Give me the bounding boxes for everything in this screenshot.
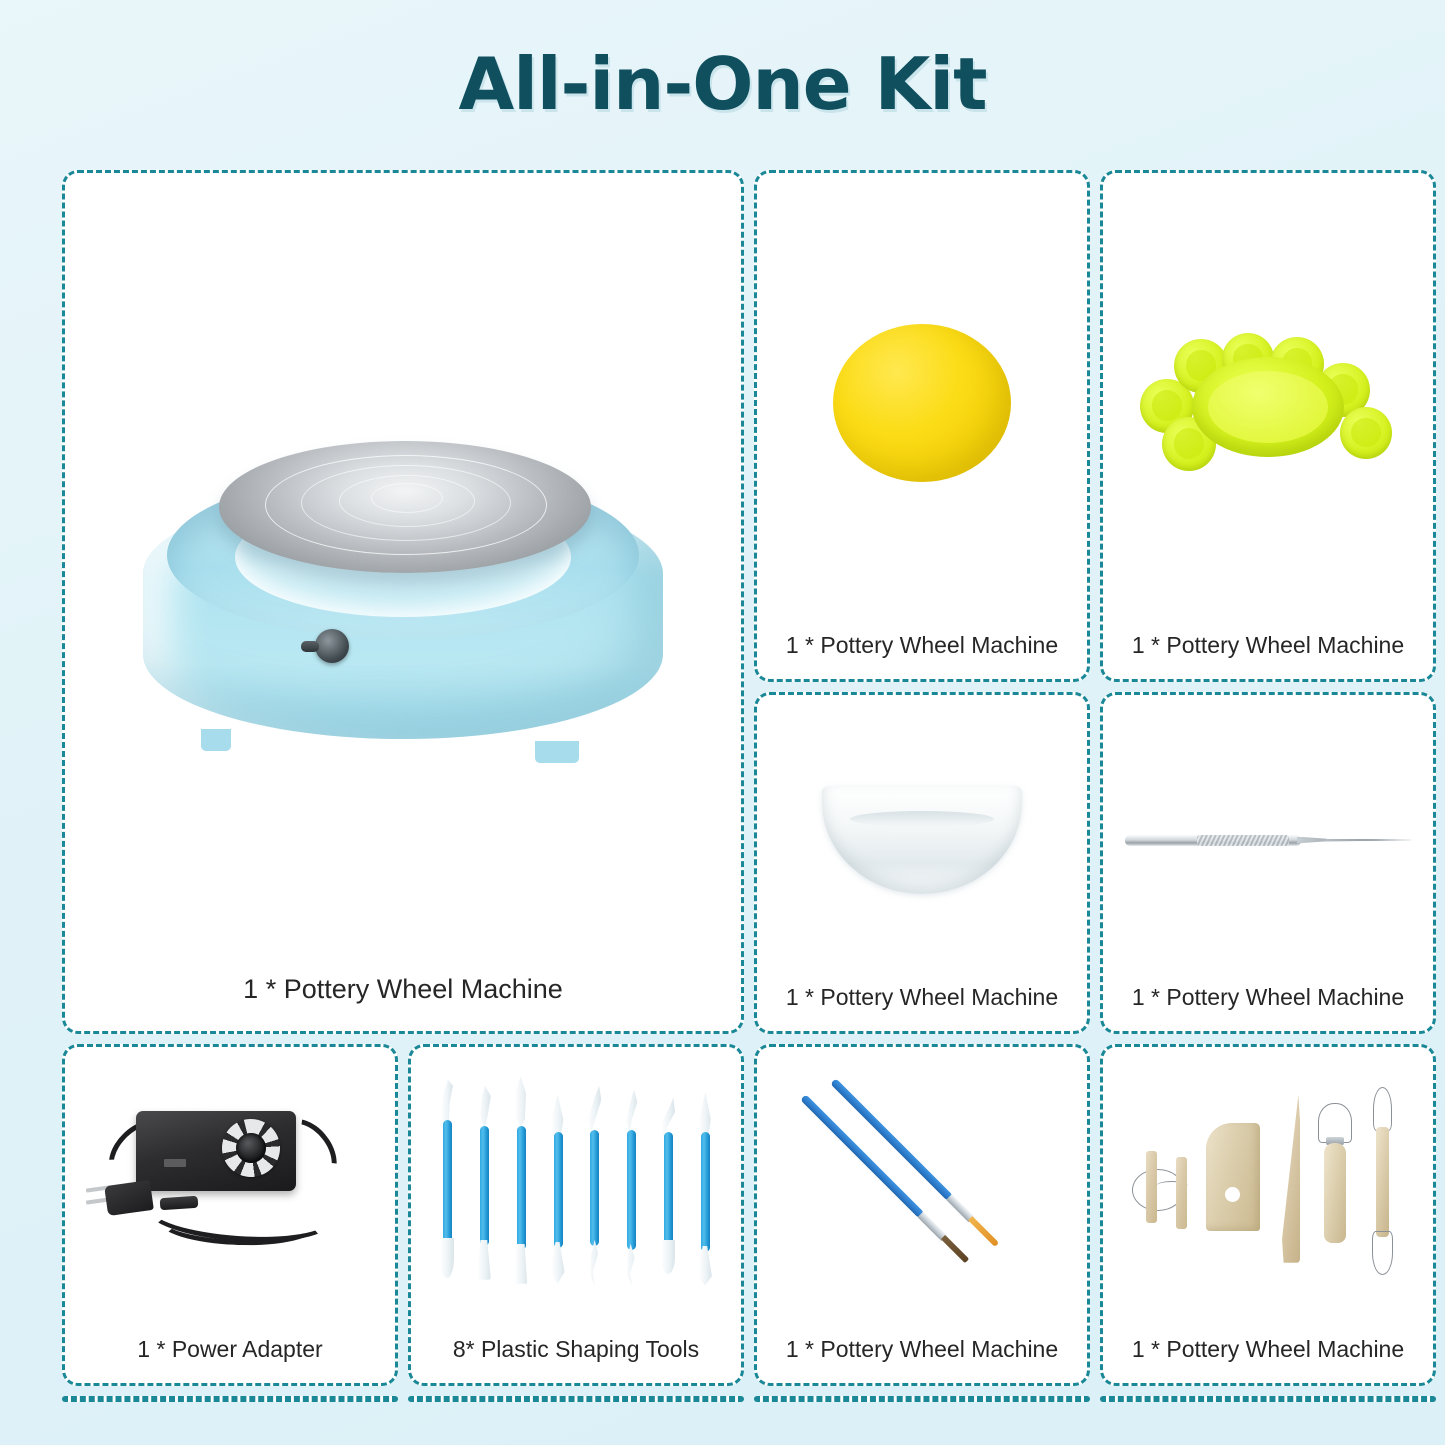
kit-grid: 1 * Pottery Wheel Machine 1 * Pottery Wh… — [62, 170, 1382, 1388]
kit-card-sponge[interactable]: 1 * Pottery Wheel Machine — [754, 170, 1090, 682]
kit-card-caption: 1 * Pottery Wheel Machine — [411, 1399, 741, 1402]
kit-card-caption: 1 * Pottery Wheel Machine — [65, 974, 741, 1031]
kit-card-caption: 1 * Power Adapter — [65, 1336, 395, 1383]
kit-card-paint-brushes[interactable]: 1 * Pottery Wheel Machine — [754, 1044, 1090, 1386]
kit-card-caption: 1 * Pottery Wheel Machine — [65, 1399, 395, 1402]
kit-card-clay-blocks[interactable]: 1 * Pottery Wheel Machine — [62, 1396, 398, 1402]
white-scraper-rib-icon — [757, 695, 1087, 984]
plastic-shaping-tools-icon — [411, 1047, 741, 1336]
power-adapter-icon — [65, 1047, 395, 1336]
kit-card-pottery-wheel-machine[interactable]: 1 * Pottery Wheel Machine — [62, 170, 744, 1034]
kit-card-caption: 1 * Pottery Wheel Machine — [757, 984, 1087, 1031]
kit-card-caption: 1 * Pottery Wheel Machine — [1103, 632, 1433, 679]
metal-needle-tool-icon — [1103, 695, 1433, 984]
kit-card-plastic-shaping-tools[interactable]: 8* Plastic Shaping Tools — [408, 1044, 744, 1386]
infographic-page: All-in-One Kit 1 * Pottery — [0, 0, 1445, 1445]
kit-card-scraper-rib[interactable]: 1 * Pottery Wheel Machine — [754, 692, 1090, 1034]
yellow-sponge-icon — [757, 173, 1087, 632]
kit-card-caption: 1 * Pottery Wheel Machine — [1103, 1336, 1433, 1383]
kit-card-caption: 1 * Pottery Wheel Machine — [757, 632, 1087, 679]
pottery-wheel-machine-icon — [65, 173, 741, 974]
kit-card-needle-tool[interactable]: 1 * Pottery Wheel Machine — [1100, 692, 1436, 1034]
kit-card-caption: 1 * Pottery Wheel Machine — [1103, 984, 1433, 1031]
kit-card-paint-pots[interactable]: 1 * Pottery Wheel Machine — [408, 1396, 744, 1402]
wooden-pottery-tools-icon — [1103, 1047, 1433, 1336]
paint-brushes-icon — [757, 1047, 1087, 1336]
kit-card-instruction-manual[interactable]: Alldeer Mini Pottery Wheel Machine Instr… — [754, 1396, 1090, 1402]
kit-card-caption: 1 * Pottery Wheel Machine — [757, 1336, 1087, 1383]
paint-palette-icon — [1103, 173, 1433, 632]
kit-card-caption: 1 * Pottery Wheel Machine — [1103, 1399, 1433, 1402]
kit-card-apron[interactable]: Hello 1 * Pottery Wheel Machine — [1100, 1396, 1436, 1402]
kit-card-caption: 8* Plastic Shaping Tools — [411, 1336, 741, 1383]
page-title: All-in-One Kit — [0, 42, 1445, 126]
kit-card-wooden-pottery-tools[interactable]: 1 * Pottery Wheel Machine — [1100, 1044, 1436, 1386]
kit-card-paint-palette[interactable]: 1 * Pottery Wheel Machine — [1100, 170, 1436, 682]
kit-card-power-adapter[interactable]: 1 * Power Adapter — [62, 1044, 398, 1386]
kit-card-caption: 1 * Pottery Wheel Machine — [757, 1399, 1087, 1402]
